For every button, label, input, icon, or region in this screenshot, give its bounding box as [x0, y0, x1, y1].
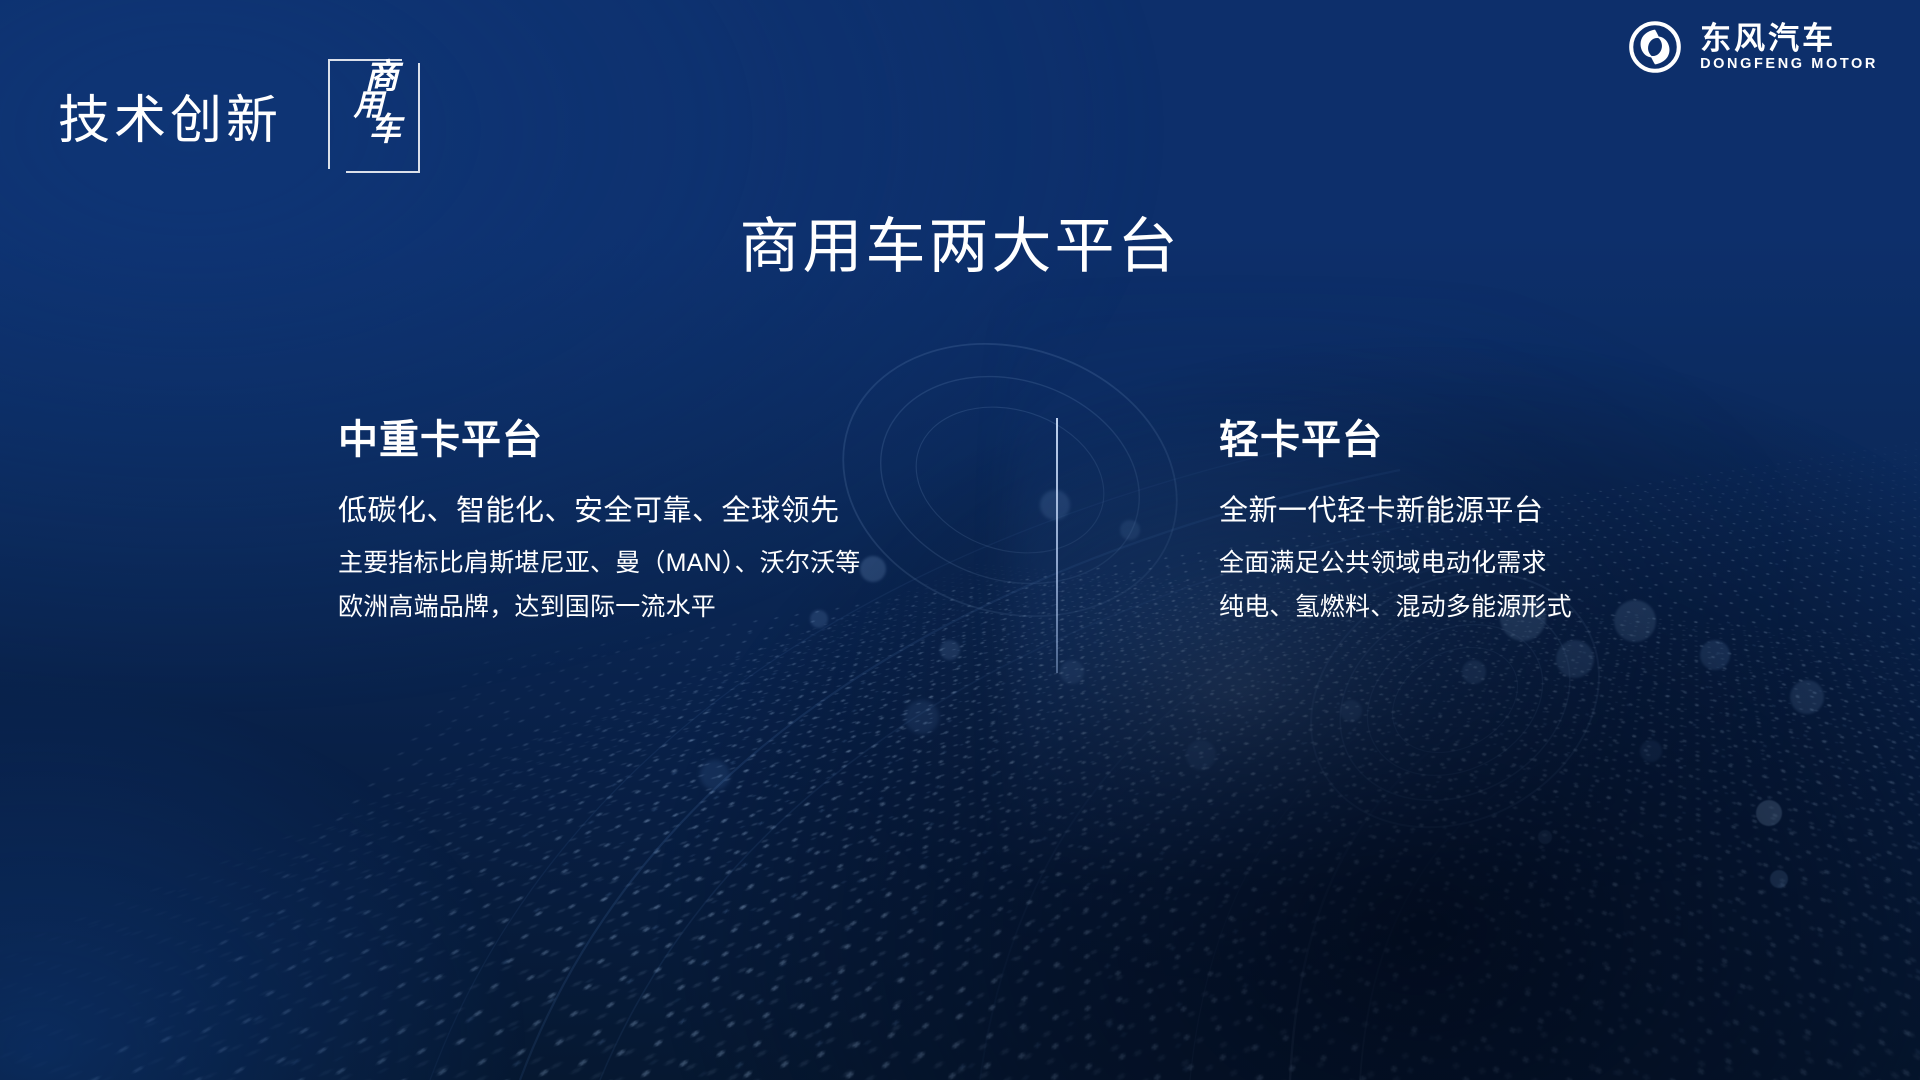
platform-column-heavy-truck: 中重卡平台 低碳化、智能化、安全可靠、全球领先 主要指标比肩斯堪尼亚、曼（MAN…: [338, 420, 1058, 623]
platform-detail-line: 主要指标比肩斯堪尼亚、曼（MAN）、沃尔沃等: [338, 548, 1058, 579]
platform-heading: 中重卡平台: [338, 420, 1058, 460]
logo-name-cn: 东风汽车: [1700, 23, 1878, 54]
slide-canvas: 技术创新 商 用 车 东风汽车 DONGFENG MOTOR 商用车两大平台: [0, 0, 1920, 1080]
seal-char-che: 车: [369, 114, 401, 145]
page-title: 商用车两大平台: [0, 198, 1920, 285]
logo-wordmark: 东风汽车 DONGFENG MOTOR: [1700, 23, 1878, 72]
logo-name-en: DONGFENG MOTOR: [1700, 57, 1878, 72]
commercial-vehicle-seal: 商 用 车: [328, 59, 412, 171]
platform-column-light-truck: 轻卡平台 全新一代轻卡新能源平台 全面满足公共领域电动化需求 纯电、氢燃料、混动…: [1219, 420, 1839, 623]
platform-detail-line: 全面满足公共领域电动化需求: [1219, 548, 1839, 579]
column-divider: [1056, 418, 1058, 673]
slide-header: 技术创新 商 用 车: [58, 68, 412, 171]
kicker-title: 技术创新: [58, 92, 282, 152]
dongfeng-logo: 东风汽车 DONGFENG MOTOR: [1626, 18, 1878, 76]
platform-lead-line: 全新一代轻卡新能源平台: [1219, 494, 1839, 529]
seal-characters: 商 用 车: [346, 61, 408, 145]
platform-columns: 中重卡平台 低碳化、智能化、安全可靠、全球领先 主要指标比肩斯堪尼亚、曼（MAN…: [0, 420, 1920, 623]
platform-heading: 轻卡平台: [1219, 420, 1839, 460]
platform-detail-line: 欧洲高端品牌，达到国际一流水平: [338, 592, 1058, 623]
platform-detail-line: 纯电、氢燃料、混动多能源形式: [1219, 592, 1839, 623]
dongfeng-emblem-icon: [1626, 18, 1684, 76]
platform-lead-line: 低碳化、智能化、安全可靠、全球领先: [338, 494, 1058, 529]
